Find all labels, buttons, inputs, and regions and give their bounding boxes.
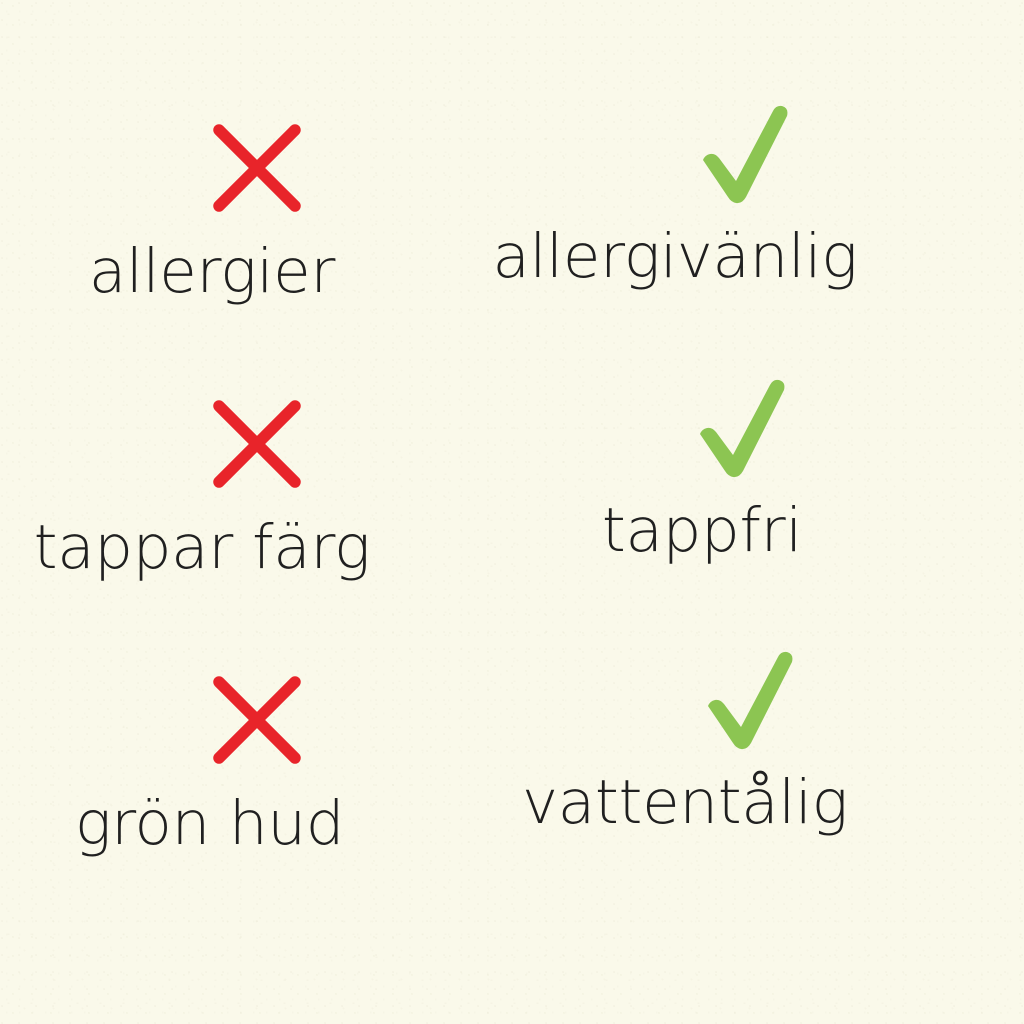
comparison-canvas: allergier allergivänlig tappar färg [0, 0, 1024, 1024]
feature-item-positive-tappfri: tappfri [622, 371, 862, 564]
feature-label: allergier [2, 240, 422, 305]
cross-icon [197, 388, 317, 500]
feature-item-positive-vattentalig: vattentålig [630, 643, 870, 836]
feature-item-negative-tappar-farg: tappar färg [137, 388, 377, 581]
cross-icon [197, 112, 317, 224]
feature-item-negative-gron-hud: grön hud [137, 664, 377, 857]
feature-label: tappar färg [0, 516, 432, 581]
feature-label: grön hud [0, 792, 425, 857]
feature-item-negative-allergier: allergier [137, 112, 377, 305]
feature-label: allergivänlig [415, 225, 935, 290]
feature-label: tappfri [502, 499, 902, 564]
cross-icon [197, 664, 317, 776]
feature-item-positive-allergivanlig: allergivänlig [625, 97, 865, 290]
check-icon [682, 371, 802, 483]
check-icon [685, 97, 805, 209]
check-icon [690, 643, 810, 755]
feature-label: vattentålig [435, 771, 935, 836]
